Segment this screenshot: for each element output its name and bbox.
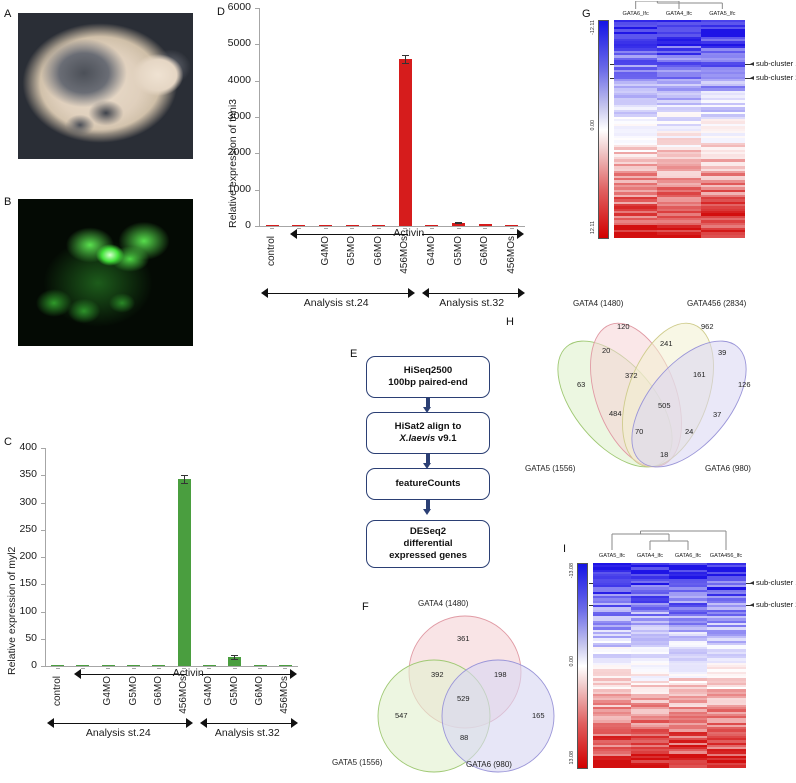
y-tick-label: 200 (3, 550, 37, 562)
x-tick-mark-7 (457, 228, 461, 229)
x-category-label-4: G6MO (373, 236, 384, 265)
x-category-label-5: 456MOs (399, 236, 410, 274)
panel-letter-e: E (350, 348, 357, 360)
x-tick-mark-9 (283, 668, 287, 669)
y-tick-label: 2000 (217, 146, 251, 158)
x-axis-line (259, 226, 525, 227)
subcluster-leader-head-1 (750, 62, 754, 66)
activin-arrow-right-shaft (200, 674, 290, 675)
flow-step-line: differential (389, 538, 467, 550)
x-category-label-2: G4MO (320, 236, 331, 265)
bar-2 (319, 225, 332, 226)
bar-8 (254, 665, 267, 666)
bar-9 (505, 225, 518, 226)
analysis-st32-arrow-shaft (429, 293, 518, 294)
colorbar-min-label: -13.08 (569, 563, 575, 578)
x-tick-mark-4 (157, 668, 161, 669)
activin-arrow-right-head (517, 229, 524, 239)
y-tick-label: 150 (3, 577, 37, 589)
x-tick-mark-3 (350, 228, 354, 229)
venn-count-all3: 529 (457, 694, 470, 703)
flow-step-text-2: HiSat2 align toX.laevis v9.1 (395, 421, 462, 444)
flow-step-text-1: HiSeq2500100bp paired-end (388, 365, 467, 388)
y-axis-label-d: Relative expression of tnni3 (227, 28, 239, 228)
error-cap-top-7 (231, 655, 238, 656)
x-tick-mark-7 (233, 668, 237, 669)
bar-4 (152, 665, 165, 666)
flow-step-line: 100bp paired-end (388, 377, 467, 389)
x-axis-line (45, 666, 298, 667)
panel-letter-i: I (563, 543, 566, 555)
x-category-label-7: G5MO (453, 236, 464, 265)
flow-step-text-3: featureCounts (395, 478, 460, 490)
venn4-label-gata456: GATA456 (2834) (687, 299, 746, 308)
venn-label-gata4: GATA4 (1480) (418, 599, 468, 608)
flow-step-line: expressed genes (389, 550, 467, 562)
y-tick-label: 4000 (217, 74, 251, 86)
panel-c-chart: C Relative expression of myl2 0501001502… (0, 430, 320, 780)
analysis-st24-arrow-shaft (268, 293, 408, 294)
dendrogram (591, 529, 747, 551)
panel-letter-g: G (582, 8, 591, 20)
error-cap-top-5 (181, 475, 188, 476)
heatmap-col-header-2: GATA6_lfc (669, 553, 707, 559)
panel-g-heatmap: G GATA6_lfcGATA4_lfcGATA5_lfc-12.110.001… (580, 0, 796, 270)
heatmap-colorbar (598, 20, 609, 239)
colorbar-mid-label: 0.00 (590, 120, 596, 131)
analysis-st24-label: Analysis st.24 (304, 297, 369, 309)
heatmap-cell (707, 765, 746, 768)
bar-9 (279, 665, 292, 666)
x-category-label-0: control (52, 676, 63, 706)
y-axis-line (259, 8, 260, 226)
heatmap-col-header-0: GATA5_lfc (593, 553, 631, 559)
heatmap-cell (669, 765, 708, 768)
venn4-count-gata456-gata6: 39 (718, 348, 726, 357)
analysis-st24-arrow-head-right (408, 288, 415, 298)
x-category-label-8: G6MO (479, 236, 490, 265)
venn-count-gata4-gata5: 392 (431, 670, 444, 679)
venn-label-gata6: GATA6 (980) (466, 760, 512, 769)
bar-6 (203, 665, 216, 666)
x-tick-mark-1 (81, 668, 85, 669)
error-cap-top-5 (402, 55, 409, 56)
x-tick-mark-6 (430, 228, 434, 229)
analysis-st32-arrow-head-left (200, 718, 207, 728)
bar-3 (346, 225, 359, 226)
heatmap-colorbar (577, 563, 588, 769)
error-cap-bottom-7 (231, 659, 238, 660)
y-tick-label: 250 (3, 523, 37, 535)
subcluster-label-2: sub-cluster 2 (756, 600, 796, 609)
heatmap-col-header-2: GATA5_lfc (701, 11, 744, 17)
x-category-label-4: G6MO (153, 676, 164, 705)
venn4-count-gata5-only: 63 (577, 380, 585, 389)
y-tick-label: 400 (3, 441, 37, 453)
heatmap-cell (631, 765, 670, 768)
venn4-count-gata5-gata4-gata6: 484 (609, 409, 622, 418)
panel-h-venn: H GATA4 (1480)GATA456 (2834)GATA5 (1556)… (505, 296, 796, 516)
colorbar-max-label: 13.08 (569, 751, 575, 765)
venn4-count-gata4-gata456: 241 (660, 339, 673, 348)
x-category-label-9: 456MOs (506, 236, 517, 274)
subcluster-left-tick-1 (589, 583, 593, 584)
bar-0 (51, 665, 64, 666)
venn4-count-gata5-gata4: 20 (602, 346, 610, 355)
venn4-count-gata4-gata456-gata6: 161 (693, 370, 706, 379)
x-tick-mark-9 (510, 228, 514, 229)
analysis-st32-arrow-head-right (291, 718, 298, 728)
venn4-count-gata6-only: 126 (738, 380, 751, 389)
flow-step-4: DESeq2differentialexpressed genes (366, 520, 490, 568)
bar-0 (266, 225, 279, 226)
x-category-label-3: G5MO (128, 676, 139, 705)
flow-step-line: X.laevis v9.1 (395, 433, 462, 445)
activin-arrow-left-head (290, 229, 297, 239)
x-tick-mark-2 (106, 668, 110, 669)
x-tick-mark-4 (377, 228, 381, 229)
activin-arrow-left-shaft (297, 234, 408, 235)
subcluster-leader-head-1 (750, 581, 754, 585)
venn4-label-gata6: GATA6 (980) (705, 464, 751, 473)
heatmap-cell (701, 235, 745, 238)
venn4-count-gata4-only: 120 (617, 322, 630, 331)
x-tick-mark-0 (270, 228, 274, 229)
panel-letter-b: B (4, 196, 11, 208)
heatmap-cell (657, 235, 701, 238)
y-tick-label: 350 (3, 468, 37, 480)
analysis-st24-label: Analysis st.24 (86, 727, 151, 739)
y-tick-label: 0 (217, 219, 251, 231)
venn4-label-gata5: GATA5 (1556) (525, 464, 575, 473)
subcluster-label-1: sub-cluster 1 (756, 59, 796, 68)
panel-i-heatmap: I GATA5_lfcGATA4_lfcGATA6_lfcGATA456_lfc… (555, 525, 796, 783)
bar-3 (127, 665, 140, 666)
y-tick-label: 0 (3, 659, 37, 671)
heatmap-col-header-1: GATA4_lfc (631, 553, 669, 559)
x-category-label-0: control (266, 236, 277, 266)
venn-count-gata4-gata6: 198 (494, 670, 507, 679)
panel-letter-a: A (4, 8, 11, 20)
heatmap-col-header-3: GATA456_lfc (707, 553, 745, 559)
bar-5 (399, 59, 412, 226)
y-tick-label: 5000 (217, 37, 251, 49)
x-tick-mark-8 (258, 668, 262, 669)
heatmap-col-header-0: GATA6_lfc (614, 11, 657, 17)
colorbar-min-label: -12.11 (590, 20, 596, 35)
venn4-label-gata4: GATA4 (1480) (573, 299, 623, 308)
flow-step-line: HiSat2 align to (395, 421, 462, 433)
venn-count-gata5-only: 547 (395, 711, 408, 720)
flow-step-line: DESeq2 (389, 526, 467, 538)
bar-4 (372, 225, 385, 226)
x-tick-mark-3 (132, 668, 136, 669)
analysis-st32-label: Analysis st.32 (439, 297, 504, 309)
x-category-label-6: G4MO (203, 676, 214, 705)
bar-5 (178, 479, 191, 666)
analysis-st32-arrow-shaft (207, 723, 291, 724)
flow-step-2: HiSat2 align toX.laevis v9.1 (366, 412, 490, 454)
activin-label: Activin (393, 227, 424, 239)
x-category-label-3: G5MO (346, 236, 357, 265)
x-category-label-2: G4MO (102, 676, 113, 705)
activin-arrow-right-head (290, 669, 297, 679)
y-axis-line (45, 448, 46, 666)
error-bar-5 (184, 475, 185, 483)
panel-e-flowchart: E HiSeq2500100bp paired-endHiSat2 align … (340, 340, 520, 580)
dendrogram (612, 1, 746, 10)
analysis-st32-label: Analysis st.32 (215, 727, 280, 739)
x-tick-mark-8 (483, 228, 487, 229)
x-category-label-7: G5MO (229, 676, 240, 705)
x-category-label-9: 456MOs (279, 676, 290, 714)
subcluster-left-tick-2 (610, 78, 614, 79)
y-tick-label: 50 (3, 632, 37, 644)
flow-arrow-head (423, 509, 431, 515)
subcluster-leader-head-2 (750, 603, 754, 607)
bar-2 (102, 665, 115, 666)
venn4-count-gata5-gata456: 18 (660, 450, 668, 459)
error-cap-bottom-5 (181, 483, 188, 484)
x-tick-mark-1 (297, 228, 301, 229)
x-tick-mark-0 (56, 668, 60, 669)
error-cap-bottom-7 (455, 223, 462, 224)
venn-count-gata6-only: 165 (532, 711, 545, 720)
heatmap-cell (614, 235, 658, 238)
subcluster-leader-head-2 (750, 76, 754, 80)
venn-count-gata5-gata6: 88 (460, 733, 468, 742)
activin-arrow-right-shaft (422, 234, 517, 235)
panel-d-chart: D Relative expression of tnni3 010002000… (215, 0, 545, 320)
colorbar-mid-label: 0.00 (569, 656, 575, 667)
fluorescence-micrograph-image (18, 199, 193, 346)
venn-label-gata5: GATA5 (1556) (332, 758, 382, 767)
venn4-count-gata5-gata6: 70 (635, 427, 643, 436)
flow-step-1: HiSeq2500100bp paired-end (366, 356, 490, 398)
venn4-count-gata4-gata6: 24 (685, 427, 693, 436)
error-bar-5 (405, 55, 406, 64)
brightfield-micrograph-image (18, 13, 193, 159)
bar-8 (479, 224, 492, 226)
subcluster-left-tick-1 (610, 64, 614, 65)
flow-arrow-3 (423, 500, 432, 516)
flow-step-line: featureCounts (395, 478, 460, 490)
x-category-label-6: G4MO (426, 236, 437, 265)
subcluster-label-1: sub-cluster 1 (756, 578, 796, 587)
bar-1 (76, 665, 89, 666)
venn4-count-all4: 505 (658, 401, 671, 410)
analysis-st24-arrow-head-left (261, 288, 268, 298)
analysis-st24-arrow-head-right (186, 718, 193, 728)
x-category-label-8: G6MO (254, 676, 265, 705)
activin-arrow-left-shaft (81, 674, 186, 675)
error-cap-bottom-5 (402, 63, 409, 64)
y-tick-label: 300 (3, 496, 37, 508)
analysis-st24-arrow-head-left (47, 718, 54, 728)
heatmap-col-header-1: GATA4_lfc (657, 11, 700, 17)
y-tick-label: 100 (3, 605, 37, 617)
venn4-count-gata456-only: 962 (701, 322, 714, 331)
venn4-count-gata456-gata6-extra: 37 (713, 410, 721, 419)
colorbar-max-label: 12.11 (590, 221, 596, 234)
y-tick-label: 1000 (217, 183, 251, 195)
venn4-svg (505, 296, 796, 516)
x-tick-mark-2 (324, 228, 328, 229)
flow-step-line: HiSeq2500 (388, 365, 467, 377)
y-tick-label: 3000 (217, 110, 251, 122)
analysis-st24-arrow-shaft (54, 723, 186, 724)
subcluster-label-2: sub-cluster 2 (756, 73, 796, 82)
bar-6 (425, 225, 438, 226)
activin-arrow-left-head (74, 669, 81, 679)
analysis-st32-arrow-head-left (422, 288, 429, 298)
y-tick-label: 6000 (217, 1, 251, 13)
heatmap-cell (593, 765, 632, 768)
venn-count-gata4-only: 361 (457, 634, 470, 643)
flow-step-3: featureCounts (366, 468, 490, 500)
venn4-count-gata5-gata4-gata456: 372 (625, 371, 638, 380)
flow-step-text-4: DESeq2differentialexpressed genes (389, 526, 467, 561)
x-tick-mark-6 (207, 668, 211, 669)
x-category-label-5: 456MOs (178, 676, 189, 714)
subcluster-left-tick-2 (589, 605, 593, 606)
bar-1 (292, 225, 305, 226)
